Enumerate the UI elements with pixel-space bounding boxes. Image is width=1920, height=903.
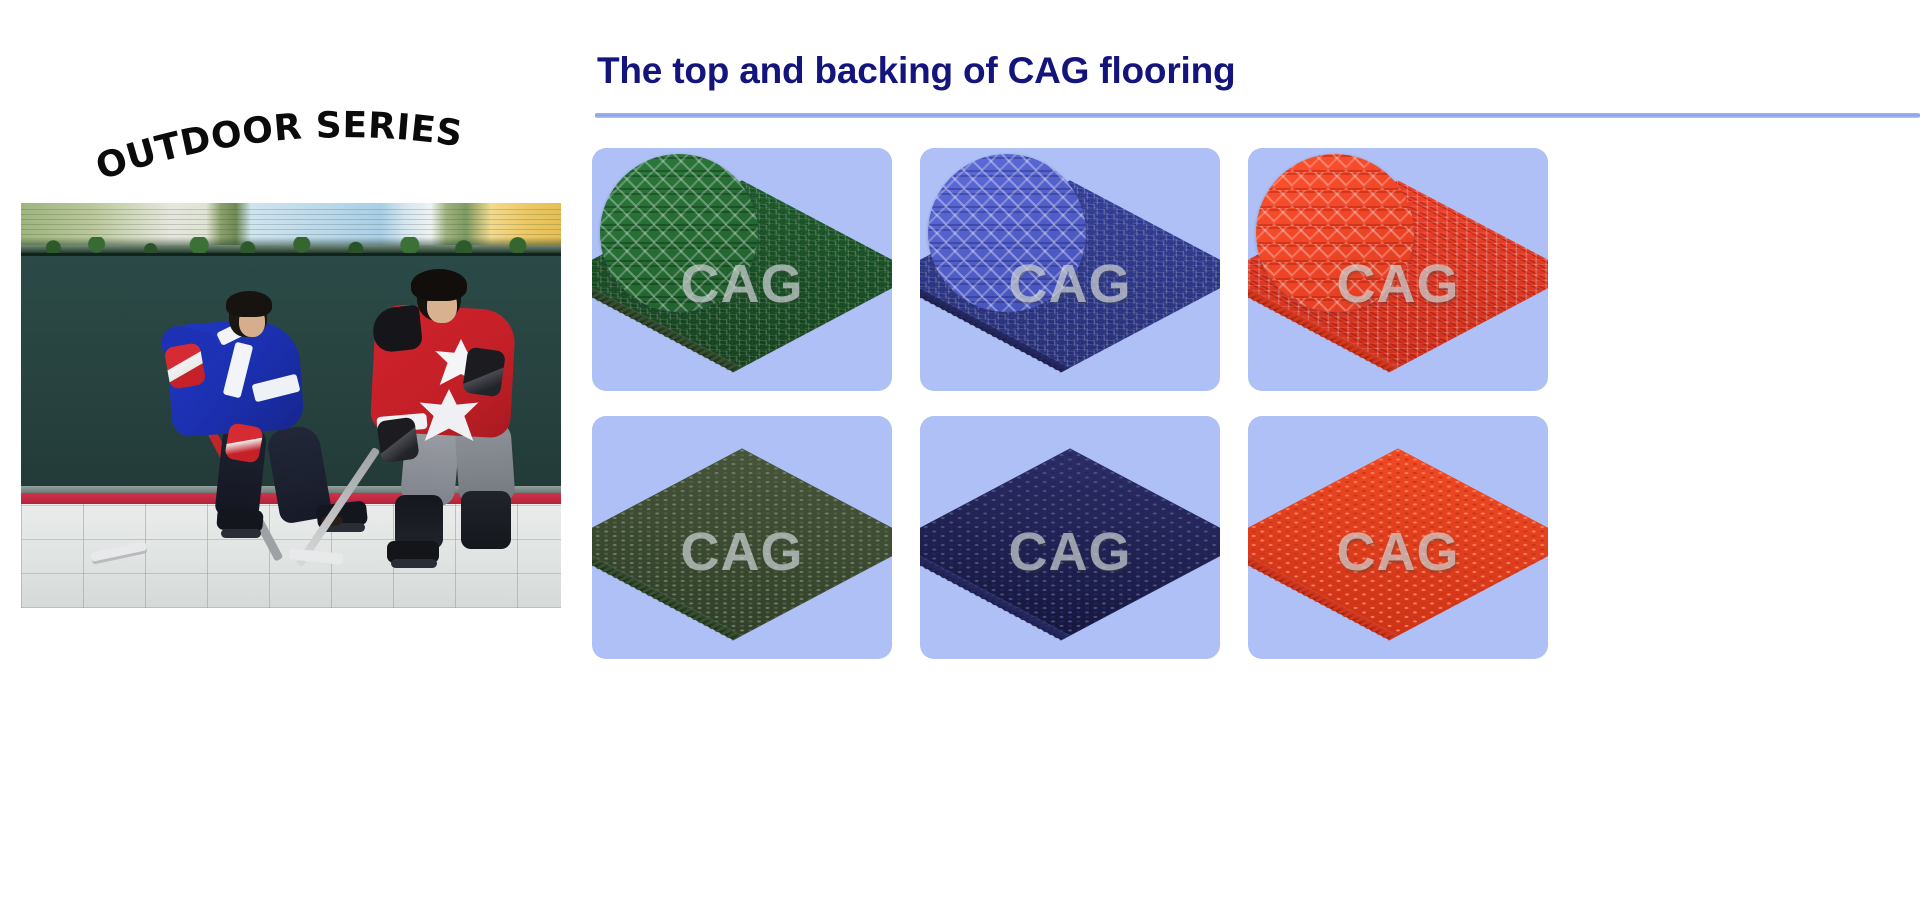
left-content-block: OUTDOOR SERIES [0, 0, 580, 903]
photo-player-right-glove-upper [462, 347, 506, 398]
tile-stage [920, 416, 1220, 659]
photo-player-left-glove-upper [164, 342, 207, 390]
outdoor-series-label: OUTDOOR SERIES [91, 105, 465, 188]
tile-panel-red-backing[interactable]: CAG [1248, 416, 1548, 659]
tile-backing-surface [920, 449, 1220, 636]
right-content-block: The top and backing of CAG flooring CAG [592, 0, 1920, 903]
page-title: The top and backing of CAG flooring [597, 50, 1235, 92]
photo-player-right-wheels [391, 559, 437, 568]
photo-player-left-wheels-near [221, 529, 261, 538]
photo-player-right-hair [411, 269, 467, 301]
magnifier-inset-blue [928, 154, 1086, 312]
hockey-photo [21, 203, 561, 608]
tile-stage [592, 416, 892, 659]
photo-player-right-shin-far [461, 491, 511, 549]
tile-panel-grid: CAG CAG CAG [592, 148, 1920, 659]
tile-panel-green-backing[interactable]: CAG [592, 416, 892, 659]
tile-slab-green-backing [592, 449, 892, 636]
tile-slab-blue-backing [920, 449, 1220, 636]
tile-backing-surface [1248, 449, 1548, 636]
photo-player-left-glove-lower [224, 422, 264, 463]
title-divider [595, 113, 1920, 118]
tile-panel-blue-backing[interactable]: CAG [920, 416, 1220, 659]
outdoor-series-wordmark: OUTDOOR SERIES [95, 118, 495, 190]
tile-panel-red-top[interactable]: CAG [1248, 148, 1548, 391]
photo-player-right-glove-lower [376, 417, 419, 464]
tile-backing-surface [592, 449, 892, 636]
tile-slab-red-backing [1248, 449, 1548, 636]
tile-panel-blue-top[interactable]: CAG [920, 148, 1220, 391]
tile-panel-green-top[interactable]: CAG [592, 148, 892, 391]
magnifier-inset-red [1256, 154, 1414, 312]
magnifier-inset-green [600, 154, 758, 312]
tile-stage [1248, 416, 1548, 659]
photo-player-left-hair [226, 291, 272, 317]
